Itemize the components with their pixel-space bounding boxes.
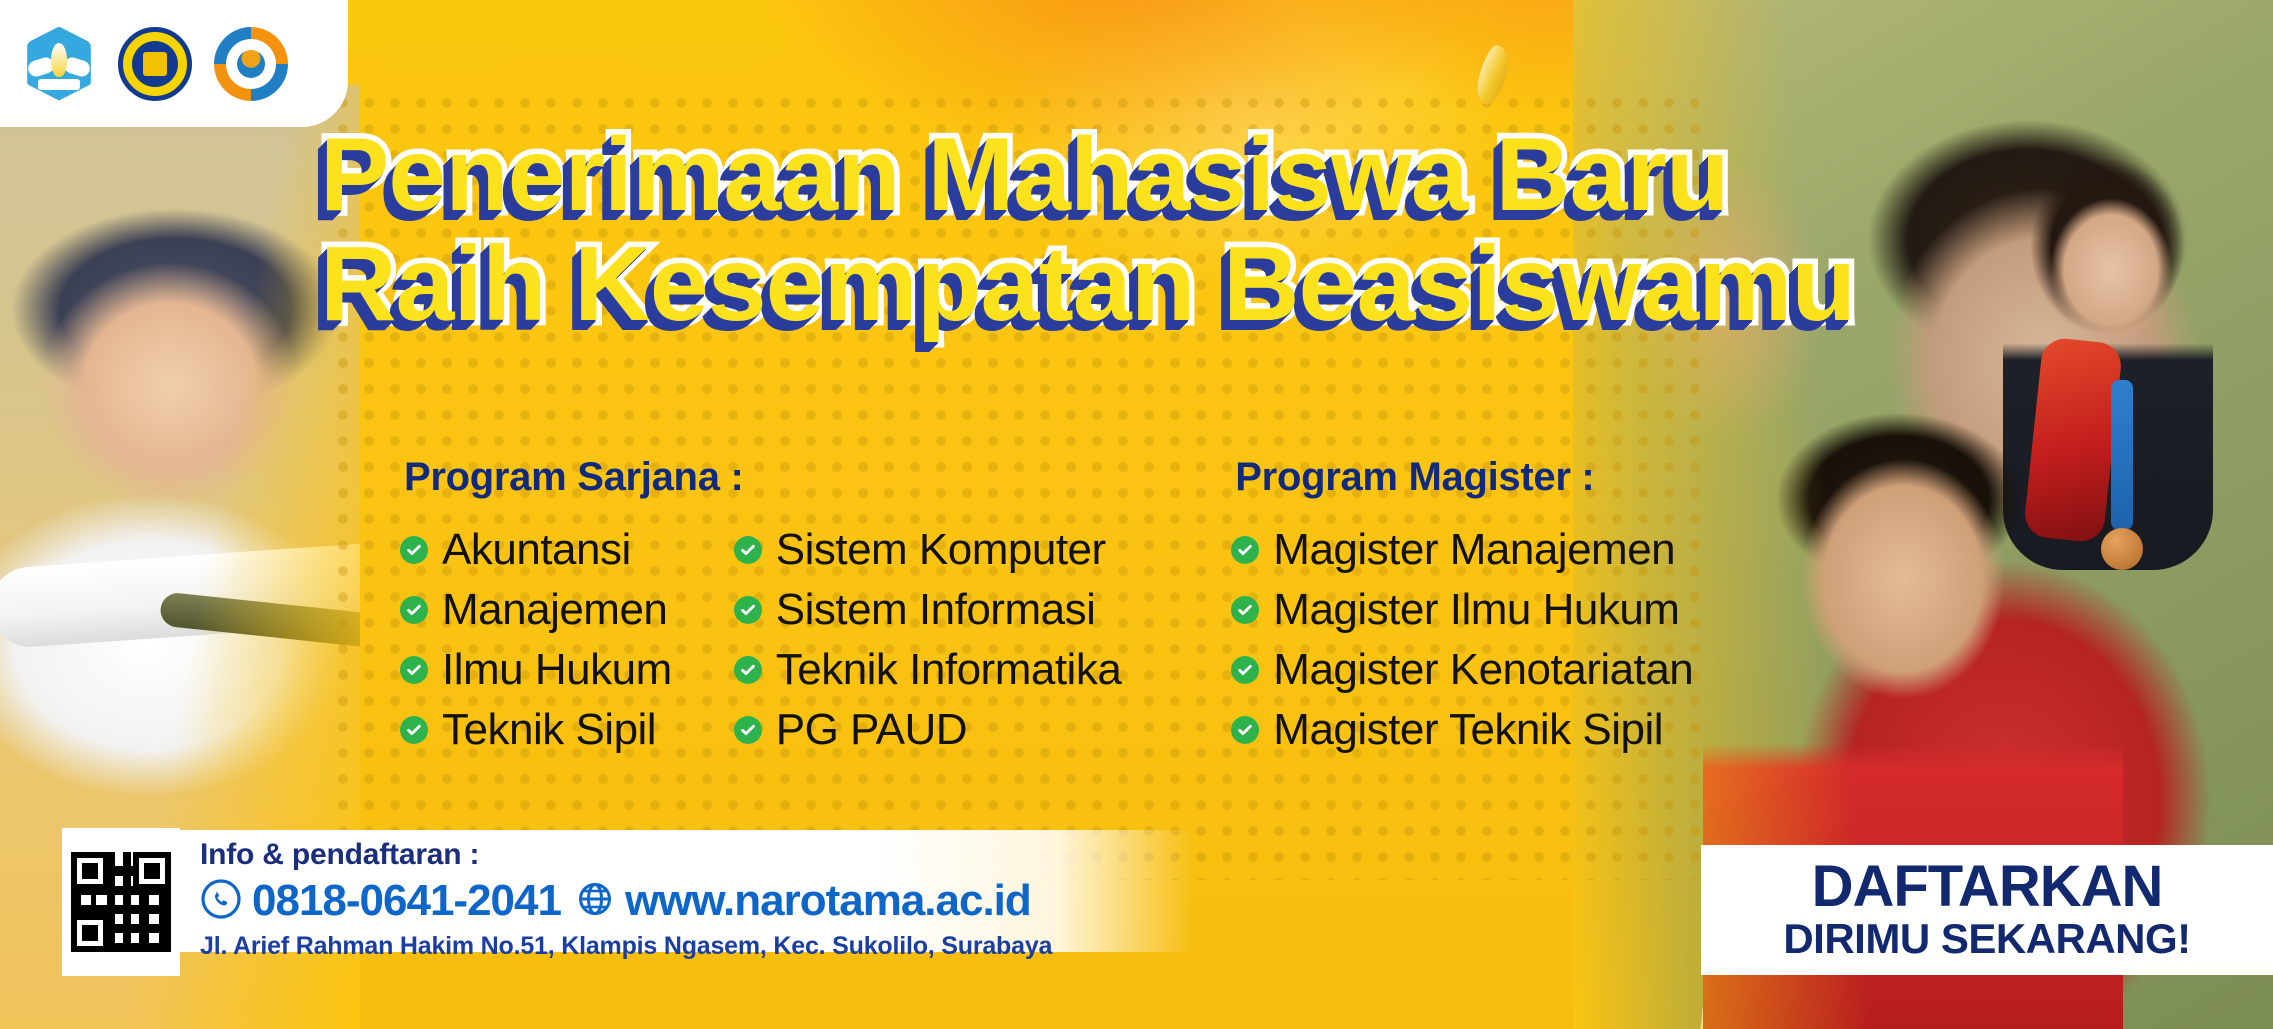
list-item: Magister Manajemen — [1231, 524, 1693, 576]
website-contact[interactable]: www.narotama.ac.id — [575, 876, 1031, 926]
promotional-banner: Penerimaan Mahasiswa Baru Raih Kesempata… — [0, 0, 2273, 1029]
list-item: Manajemen — [400, 584, 672, 636]
medal — [2111, 380, 2133, 530]
logo-bar — [0, 0, 348, 127]
diktisaintek-berdampak-logo — [214, 27, 288, 101]
phone-number: 0818-0641-2041 — [252, 876, 561, 926]
tut-wuri-handayani-logo — [22, 27, 96, 101]
program-label: Manajemen — [442, 584, 667, 636]
program-label: Teknik Informatika — [776, 644, 1122, 696]
qr-code-card[interactable] — [62, 828, 180, 976]
program-label: Magister Ilmu Hukum — [1273, 584, 1679, 636]
program-label: Magister Teknik Sipil — [1273, 704, 1663, 756]
check-circle-icon — [1231, 656, 1259, 684]
flame-icon — [51, 43, 67, 77]
narotama-monogram-icon — [143, 52, 167, 76]
female-athlete — [2003, 150, 2213, 570]
headline-line-2: Raih Kesempatan Beasiswamu — [320, 230, 1960, 338]
page-title: Penerimaan Mahasiswa Baru Raih Kesempata… — [320, 122, 1960, 338]
qr-finder-top-right — [133, 852, 171, 890]
check-circle-icon — [400, 716, 428, 744]
sarjana-list-column-2: Sistem Komputer Sistem Informasi Teknik … — [734, 524, 1122, 764]
program-label: Magister Manajemen — [1273, 524, 1675, 576]
magister-list: Magister Manajemen Magister Ilmu Hukum M… — [1231, 524, 1693, 756]
check-circle-icon — [1231, 716, 1259, 744]
headline-line-1: Penerimaan Mahasiswa Baru — [320, 122, 1960, 228]
program-label: Magister Kenotariatan — [1273, 644, 1693, 696]
check-circle-icon — [1231, 536, 1259, 564]
person-figure-icon — [237, 50, 265, 78]
qr-code[interactable] — [71, 852, 171, 952]
cta-line-2: DIRIMU SEKARANG! — [1783, 916, 2190, 962]
confetti-ribbon — [1473, 43, 1513, 108]
list-item: Ilmu Hukum — [400, 644, 672, 696]
list-item: PG PAUD — [734, 704, 1122, 756]
campus-address: Jl. Arief Rahman Hakim No.51, Klampis Ng… — [200, 932, 1052, 961]
contact-label: Info & pendaftaran : — [200, 838, 1031, 872]
globe-icon — [575, 879, 615, 924]
whatsapp-icon — [200, 878, 242, 925]
check-circle-icon — [734, 716, 762, 744]
check-circle-icon — [400, 536, 428, 564]
program-label: Ilmu Hukum — [442, 644, 672, 696]
bow-riser — [159, 592, 360, 653]
program-label: Akuntansi — [442, 524, 631, 576]
list-item: Magister Ilmu Hukum — [1231, 584, 1693, 636]
program-label: Sistem Komputer — [776, 524, 1106, 576]
magister-heading: Program Magister : — [1235, 455, 1693, 500]
magister-column: Program Magister : Magister Manajemen Ma… — [1231, 455, 1693, 764]
website-url: www.narotama.ac.id — [625, 876, 1031, 926]
jacket — [2023, 336, 2123, 543]
check-circle-icon — [400, 656, 428, 684]
check-circle-icon — [1231, 596, 1259, 624]
book-icon — [38, 79, 80, 90]
diktisaintek-seal-inner — [226, 39, 276, 89]
check-circle-icon — [734, 656, 762, 684]
universitas-narotama-logo — [118, 27, 192, 101]
list-item: Teknik Sipil — [400, 704, 672, 756]
list-item: Magister Kenotariatan — [1231, 644, 1693, 696]
list-item: Sistem Komputer — [734, 524, 1122, 576]
cta-panel[interactable]: DAFTARKAN DIRIMU SEKARANG! — [1701, 845, 2273, 975]
programs-section: Program Sarjana : Akuntansi Manajemen — [400, 455, 1880, 764]
program-label: Sistem Informasi — [776, 584, 1096, 636]
program-label: PG PAUD — [776, 704, 967, 756]
phone-contact[interactable]: 0818-0641-2041 — [200, 876, 561, 926]
qr-finder-bottom-left — [71, 914, 109, 952]
sarjana-list-column-1: Akuntansi Manajemen Ilmu Hukum — [400, 524, 672, 764]
narotama-seal-inner — [132, 41, 178, 87]
program-label: Teknik Sipil — [442, 704, 656, 756]
sarjana-heading: Program Sarjana : — [404, 455, 1121, 500]
bow-arm — [0, 540, 360, 649]
check-circle-icon — [400, 596, 428, 624]
check-circle-icon — [734, 536, 762, 564]
check-circle-icon — [734, 596, 762, 624]
list-item: Magister Teknik Sipil — [1231, 704, 1693, 756]
list-item: Teknik Informatika — [734, 644, 1122, 696]
qr-finder-top-left — [71, 852, 109, 890]
cta-line-1: DAFTARKAN — [1812, 858, 2163, 916]
sarjana-column: Program Sarjana : Akuntansi Manajemen — [400, 455, 1121, 764]
list-item: Sistem Informasi — [734, 584, 1122, 636]
list-item: Akuntansi — [400, 524, 672, 576]
contact-info: Info & pendaftaran : 0818-0641-2041 — [200, 838, 1031, 926]
